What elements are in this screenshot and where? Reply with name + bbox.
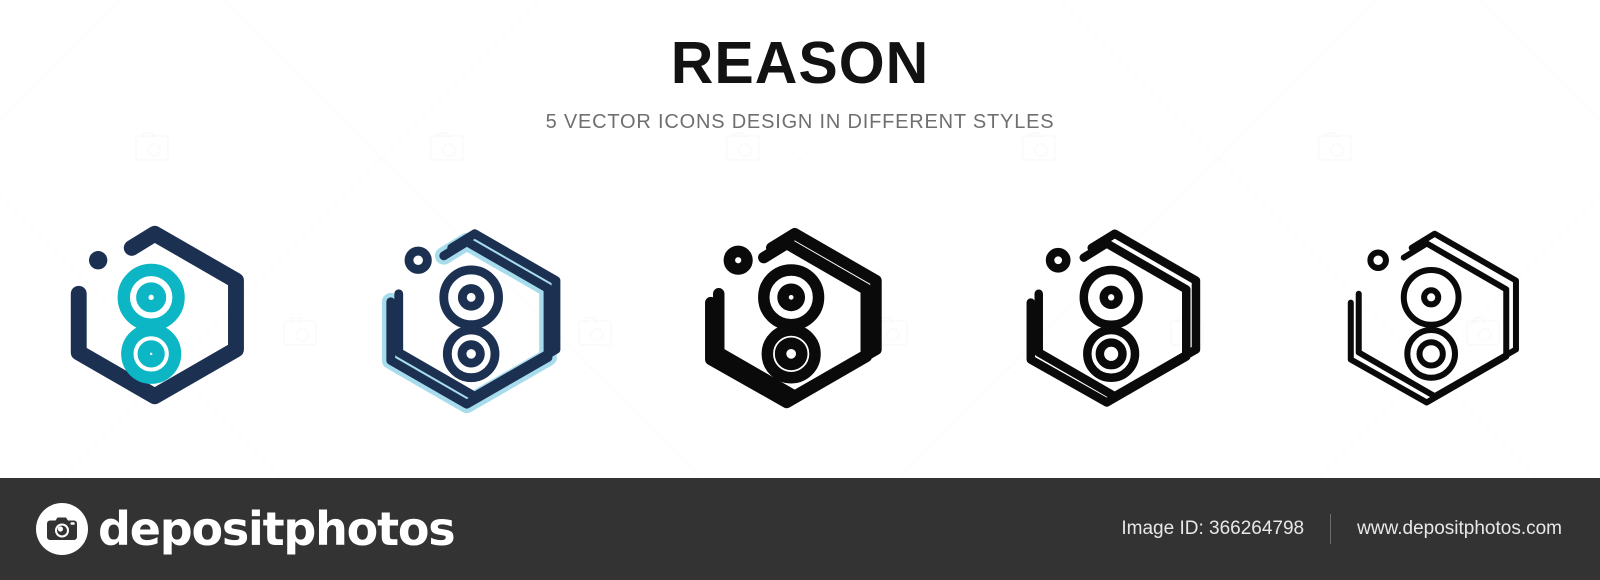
watermark-camera-icon [135, 135, 169, 161]
upper-circle-inner [462, 289, 480, 307]
upper-circle-inner [1424, 290, 1438, 304]
hexagon-two-circles-icon [1014, 209, 1226, 421]
heading-block: REASON 5 VECTOR ICONS DESIGN IN DIFFEREN… [0, 0, 1600, 134]
upper-circle-outer [1084, 270, 1139, 325]
watermark-camera-icon [1318, 135, 1352, 161]
lower-circle-inner [1420, 342, 1443, 365]
reason-icon-thin-line[interactable] [1325, 200, 1555, 430]
upper-circle-inner [783, 289, 799, 305]
hexagon-dot-icon [1370, 252, 1386, 268]
image-id-label: Image ID: 366264798 [1121, 518, 1304, 540]
reason-icon-bold-line[interactable] [685, 200, 915, 430]
footer-divider [1330, 514, 1331, 544]
hexagon-two-circles-icon [1334, 209, 1546, 421]
camera-icon [36, 503, 88, 555]
lower-circle-inner [1100, 343, 1123, 366]
upper-circle-inner [142, 289, 160, 307]
footer-bar: depositphotos Image ID: 366264798 www.de… [0, 478, 1600, 580]
lower-circle-inner [781, 343, 802, 364]
stock-photo-preview: REASON 5 VECTOR ICONS DESIGN IN DIFFEREN… [0, 0, 1600, 580]
hexagon-two-circles-icon [54, 209, 266, 421]
upper-circle-outer [444, 270, 499, 325]
reason-icon-regular-line[interactable] [1005, 200, 1235, 430]
lower-circle-inner [462, 345, 480, 363]
hexagon-dot-icon [409, 251, 427, 269]
upper-circle-inner [1104, 290, 1119, 305]
upper-circle-outer [124, 270, 179, 325]
hexagon-dot-icon [729, 251, 747, 269]
page-subtitle: 5 VECTOR ICONS DESIGN IN DIFFERENT STYLE… [0, 95, 1600, 134]
upper-circle-outer [1404, 270, 1459, 325]
reason-icon-filled[interactable] [45, 200, 275, 430]
brand-logo[interactable]: depositphotos [36, 502, 454, 556]
reason-icon-duotone[interactable] [365, 200, 595, 430]
watermark-camera-icon [726, 135, 760, 161]
hexagon-dot-icon [1050, 252, 1066, 268]
lower-circle-outer [127, 330, 175, 378]
watermark-camera-icon [1022, 135, 1056, 161]
hexagon-dot-icon [89, 251, 107, 269]
lower-circle-outer [1087, 330, 1135, 378]
hexagon-two-circles-icon [374, 209, 586, 421]
watermark-camera-icon [430, 135, 464, 161]
upper-circle-outer [764, 270, 819, 325]
page-title: REASON [0, 0, 1600, 95]
lower-circle-outer [1407, 330, 1455, 378]
icon-variants-row [0, 200, 1600, 430]
lower-circle-inner [144, 346, 159, 361]
hexagon-two-circles-icon [694, 209, 906, 421]
site-url-label[interactable]: www.depositphotos.com [1357, 518, 1562, 540]
brand-wordmark: depositphotos [98, 502, 454, 556]
lower-circle-outer [767, 330, 815, 378]
footer-meta: Image ID: 366264798 www.depositphotos.co… [1121, 514, 1562, 544]
lower-circle-outer [447, 330, 495, 378]
